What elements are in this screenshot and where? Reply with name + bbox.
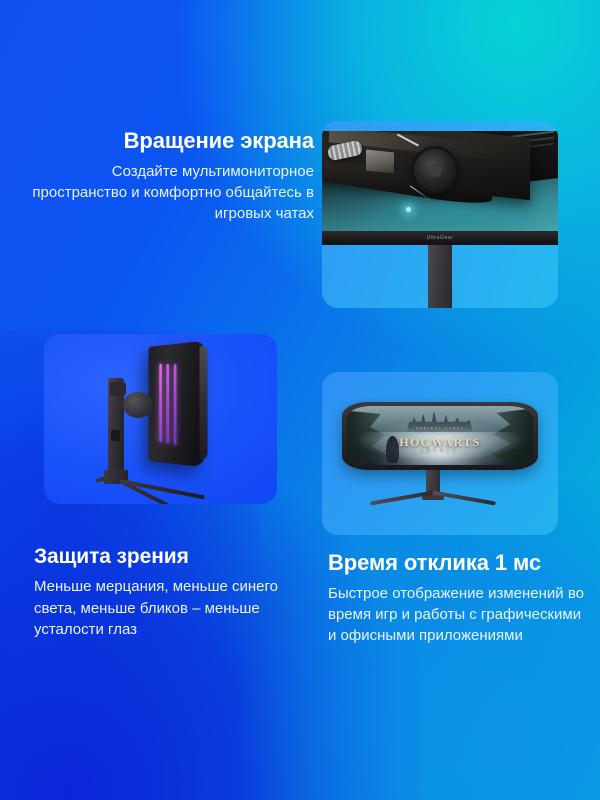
feature-text-response-time: Время отклика 1 мс Быстрое отображение и… [328, 550, 584, 646]
feature-card-rotation: UltraGear [322, 121, 558, 308]
glow-dot [406, 207, 411, 212]
monitor-panel-edge [199, 346, 207, 461]
monitor-stand-neck [428, 245, 452, 308]
ultrawide-monitor-screen: PORTKEY GAMES HOGWARTS LEGACY [347, 406, 533, 465]
feature-card-response-time: PORTKEY GAMES HOGWARTS LEGACY [322, 372, 558, 535]
game-title: HOGWARTS [347, 436, 533, 448]
feature-body-eye-care: Меньше мерцания, меньше синего света, ме… [34, 576, 299, 640]
spaceship-cargo-crate [366, 150, 394, 174]
feature-body-rotation: Создайте мультимониторное пространство и… [28, 161, 314, 225]
feature-card-eye-care [44, 334, 277, 504]
feature-title-rotation: Вращение экрана [28, 128, 314, 154]
rgb-lighting-stripes [158, 363, 184, 446]
feature-title-eye-care: Защита зрения [34, 545, 299, 569]
rgb-stripe [174, 364, 177, 445]
monitor-screen-space-scene [322, 131, 558, 231]
ultrawide-monitor: PORTKEY GAMES HOGWARTS LEGACY [342, 402, 538, 470]
feature-banner: UltraGear PORTKEY GAME [0, 0, 600, 800]
monitor-stand-arm [110, 382, 126, 396]
feature-text-eye-care: Защита зрения Меньше мерцания, меньше си… [34, 545, 299, 640]
feature-title-response-time: Время отклика 1 мс [328, 550, 584, 576]
feature-text-rotation: Вращение экрана Создайте мультимониторно… [28, 128, 314, 224]
rgb-stripe [166, 364, 169, 444]
game-pre-title: PORTKEY GAMES [347, 427, 533, 431]
spaceship-turbine [414, 149, 456, 191]
monitor-bezel: UltraGear [322, 231, 558, 245]
feature-body-response-time: Быстрое отображение изменений во время и… [328, 583, 584, 647]
monitor-pivot-hinge [123, 392, 153, 418]
ultragear-logo: UltraGear [426, 235, 453, 241]
rgb-stripe [159, 364, 162, 443]
game-subtitle: LEGACY [347, 448, 533, 453]
